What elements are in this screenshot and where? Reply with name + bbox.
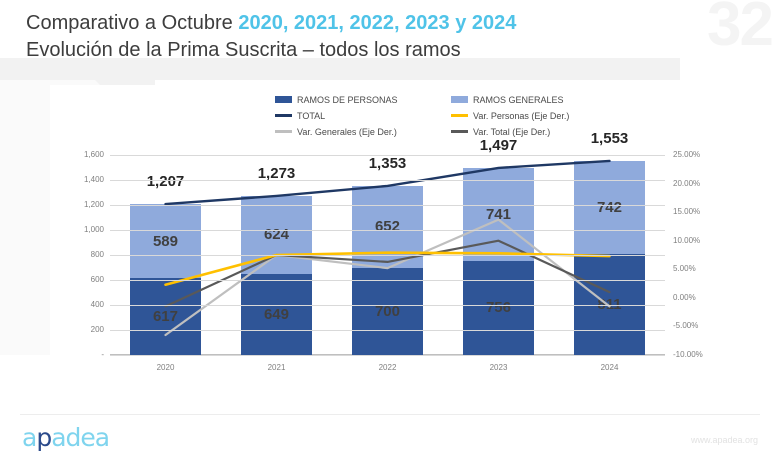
footer-divider (20, 414, 760, 415)
logo-rest: adea (51, 423, 109, 452)
line-var-generales[interactable] (166, 220, 610, 335)
y2-axis-tick-label: -5.00% (665, 321, 725, 330)
plot-canvas: 6175891,2076496241,2737006521,3537567411… (110, 155, 665, 355)
legend-line-icon (275, 114, 292, 117)
y-axis-tick-label: 400 (52, 300, 110, 309)
y2-axis-tick-label: -10.00% (665, 350, 725, 359)
legend-label: Var. Total (Eje Der.) (473, 127, 550, 137)
line-total[interactable] (166, 161, 610, 204)
page-title: Comparativo a Octubre 2020, 2021, 2022, … (26, 10, 516, 37)
legend-label: TOTAL (297, 111, 325, 121)
legend-line-icon (451, 114, 468, 117)
chart-legend: RAMOS DE PERSONASRAMOS GENERALESTOTALVar… (275, 93, 575, 138)
y-axis-tick-label: 200 (52, 325, 110, 334)
x-axis-tick-label: 2021 (221, 363, 332, 372)
gridline: 1,200 (110, 205, 665, 206)
y-axis-tick-label: 1,000 (52, 225, 110, 234)
title-prefix: Comparativo a Octubre (26, 12, 238, 34)
bar-total-label: 1,497 (443, 137, 554, 154)
page-number: 32 (707, 0, 772, 56)
legend-swatch-icon (275, 96, 292, 103)
y-axis-tick-label: 1,200 (52, 200, 110, 209)
gridline: 200 (110, 330, 665, 331)
y2-axis-tick-label: 25.00% (665, 150, 725, 159)
x-axis-tick-label: 2023 (443, 363, 554, 372)
x-axis-tick-label: 2022 (332, 363, 443, 372)
chart-container: RAMOS DE PERSONASRAMOS GENERALESTOTALVar… (50, 85, 750, 390)
legend-label: RAMOS GENERALES (473, 95, 564, 105)
legend-item[interactable]: Var. Personas (Eje Der.) (451, 109, 627, 122)
gridline: 800 (110, 255, 665, 256)
legend-label: Var. Generales (Eje Der.) (297, 127, 397, 137)
page-subtitle: Evolución de la Prima Suscrita – todos l… (26, 37, 516, 64)
gridline: 600 (110, 280, 665, 281)
plot-area: 6175891,2076496241,2737006521,3537567411… (50, 145, 750, 390)
y2-axis-tick-label: 0.00% (665, 293, 725, 302)
gridline: 1,000 (110, 230, 665, 231)
x-axis-tick-label: 2024 (554, 363, 665, 372)
gridline: - (110, 355, 665, 356)
gridline: 400 (110, 305, 665, 306)
y-axis-tick-label: 1,400 (52, 175, 110, 184)
y-axis-tick-label: 1,600 (52, 150, 110, 159)
logo-a: a (22, 423, 36, 452)
y2-axis-tick-label: 20.00% (665, 179, 725, 188)
y-axis-tick-label: 800 (52, 250, 110, 259)
y-axis-tick-label: 600 (52, 275, 110, 284)
apadea-logo: apadea (22, 425, 109, 450)
legend-item[interactable]: RAMOS DE PERSONAS (275, 93, 451, 106)
x-axis-tick-label: 2020 (110, 363, 221, 372)
website-url: www.apadea.org (691, 435, 758, 445)
legend-line-icon (451, 130, 468, 133)
title-years: 2020, 2021, 2022, 2023 y 2024 (238, 12, 516, 34)
x-axis-labels: 20202021202220232024 (110, 363, 665, 372)
gridline: 1,600 (110, 155, 665, 156)
slide-header: Comparativo a Octubre 2020, 2021, 2022, … (26, 10, 516, 64)
legend-swatch-icon (451, 96, 468, 103)
legend-item[interactable]: RAMOS GENERALES (451, 93, 627, 106)
line-var-total[interactable] (166, 241, 610, 307)
logo-p: p (36, 423, 51, 452)
legend-line-icon (275, 130, 292, 133)
y-axis-tick-label: - (52, 350, 110, 359)
y2-axis-tick-label: 5.00% (665, 264, 725, 273)
legend-label: RAMOS DE PERSONAS (297, 95, 398, 105)
legend-label: Var. Personas (Eje Der.) (473, 111, 569, 121)
y2-axis-tick-label: 15.00% (665, 207, 725, 216)
gridline: 1,400 (110, 180, 665, 181)
legend-item[interactable]: Var. Generales (Eje Der.) (275, 125, 451, 138)
y2-axis-tick-label: 10.00% (665, 236, 725, 245)
bar-total-label: 1,553 (554, 130, 665, 147)
legend-item[interactable]: TOTAL (275, 109, 451, 122)
